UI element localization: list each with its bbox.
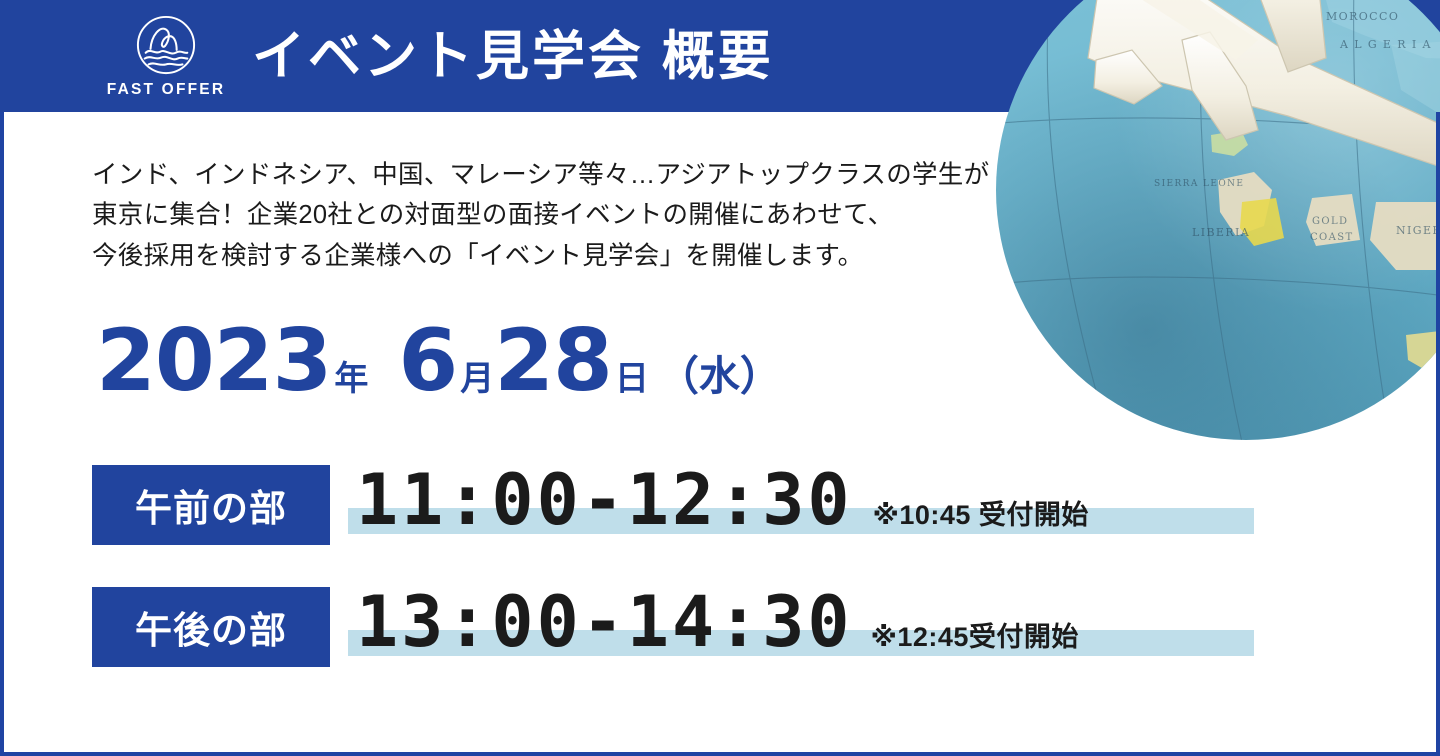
date-year-unit: 年 — [334, 362, 368, 396]
session-note-morning: ※10:45 受付開始 — [873, 502, 1089, 535]
lead-line-1: インド、インドネシア、中国、マレーシア等々…アジアトップクラスの学生が — [92, 155, 972, 195]
svg-text:SIERRA LEONE: SIERRA LEONE — [1154, 179, 1244, 189]
header-content: FAST OFFER イベント見学会 概要 — [0, 0, 774, 112]
lead-line-2: 東京に集合！企業20社との対面型の面接イベントの開催にあわせて、 — [92, 195, 972, 235]
date-month-unit: 月 — [460, 362, 494, 396]
session-row-afternoon: 午後の部 13:00-14:30 ※12:45受付開始 — [92, 587, 1083, 667]
wave-circle-logo-icon — [135, 14, 197, 76]
svg-text:A L G E R I A: A L G E R I A — [1339, 38, 1432, 51]
session-time-afternoon: 13:00-14:30 — [348, 587, 853, 657]
date-day: 28 — [494, 318, 612, 404]
session-time-group-afternoon: 13:00-14:30 ※12:45受付開始 — [348, 587, 1083, 657]
date-month: 6 — [398, 318, 457, 404]
svg-text:LIBERIA: LIBERIA — [1192, 226, 1250, 239]
lead-paragraph: インド、インドネシア、中国、マレーシア等々…アジアトップクラスの学生が 東京に集… — [92, 155, 972, 276]
date-day-unit: 日 — [615, 362, 649, 396]
svg-text:GOLD: GOLD — [1312, 216, 1348, 227]
lead-line-3: 今後採用を検討する企業様への「イベント見学会」を開催します。 — [92, 236, 972, 276]
session-note-afternoon: ※12:45受付開始 — [871, 624, 1079, 657]
event-date: 2023 年 6 月 28 日 （水） — [96, 318, 781, 404]
session-time-group-morning: 11:00-12:30 ※10:45 受付開始 — [348, 465, 1093, 535]
date-year: 2023 — [96, 318, 331, 404]
session-row-morning: 午前の部 11:00-12:30 ※10:45 受付開始 — [92, 465, 1093, 545]
date-weekday: （水） — [658, 356, 781, 397]
brand-wordmark: FAST OFFER — [107, 81, 225, 99]
svg-text:MOROCCO: MOROCCO — [1326, 10, 1399, 23]
brand-logo: FAST OFFER — [96, 14, 236, 99]
session-time-morning: 11:00-12:30 — [348, 465, 853, 535]
svg-text:COAST: COAST — [1310, 232, 1354, 243]
svg-text:NIGERIA: NIGERIA — [1396, 224, 1440, 237]
event-overview-poster: SPAIN MOROCCO A L G E R I A CANARY IS. C… — [0, 0, 1440, 756]
session-badge-afternoon: 午後の部 — [92, 587, 330, 667]
globe-photo-detail: SPAIN MOROCCO A L G E R I A CANARY IS. C… — [996, 0, 1440, 440]
globe-airplane-photo: SPAIN MOROCCO A L G E R I A CANARY IS. C… — [996, 0, 1440, 440]
page-title: イベント見学会 概要 — [252, 30, 774, 83]
session-badge-morning: 午前の部 — [92, 465, 330, 545]
